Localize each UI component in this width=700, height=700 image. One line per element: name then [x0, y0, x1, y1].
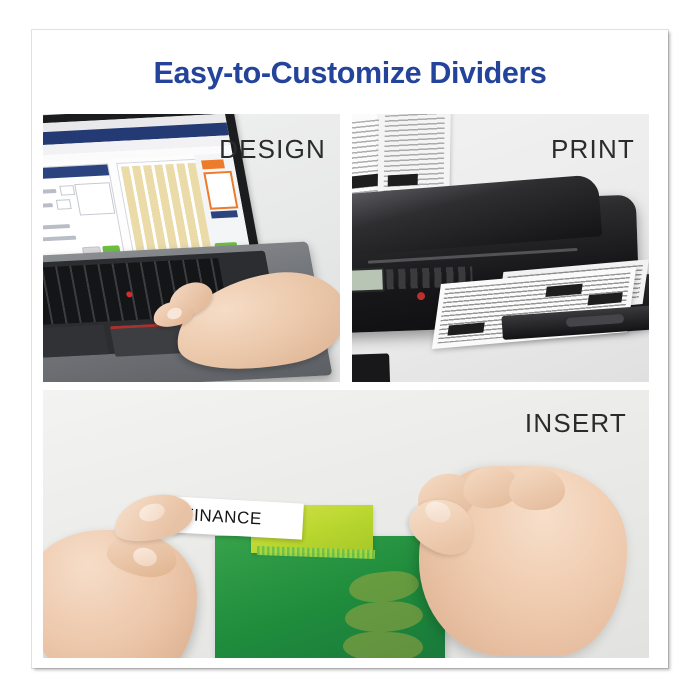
sheet-label-bar	[388, 174, 418, 187]
panel-label-print: PRINT	[551, 134, 635, 165]
laptop-trackpoint[interactable]	[126, 291, 133, 297]
hand-left	[43, 486, 241, 658]
printer-power-button[interactable]	[417, 292, 425, 300]
screen-form-label	[43, 236, 76, 242]
hand-palm	[168, 262, 340, 382]
hand-on-laptop	[137, 268, 340, 382]
panel-print: PRINT	[352, 114, 649, 382]
panel-label-insert: INSERT	[525, 408, 627, 439]
panel-design: DESIGN	[43, 114, 340, 382]
screen-form-label	[43, 189, 57, 194]
screen-form-label	[43, 203, 53, 208]
screen-form-label	[43, 224, 70, 230]
product-feature-card: Easy-to-Customize Dividers	[32, 30, 668, 668]
laptop-palmrest-left	[43, 325, 109, 358]
screen-options-panel	[43, 163, 126, 264]
screen-form-field	[59, 185, 75, 196]
screen-options-header	[43, 164, 109, 179]
screen-preview-box	[74, 182, 115, 215]
panel-insert: FINANCE INSERT	[43, 390, 649, 658]
screen-form-field	[56, 199, 72, 210]
printer-side-panel	[352, 353, 392, 382]
hand-right	[387, 440, 627, 658]
printer-lcd-display	[352, 267, 385, 293]
page-title: Easy-to-Customize Dividers	[32, 56, 668, 91]
panel-label-design: DESIGN	[219, 134, 326, 165]
screen-primary-button[interactable]	[211, 210, 238, 218]
